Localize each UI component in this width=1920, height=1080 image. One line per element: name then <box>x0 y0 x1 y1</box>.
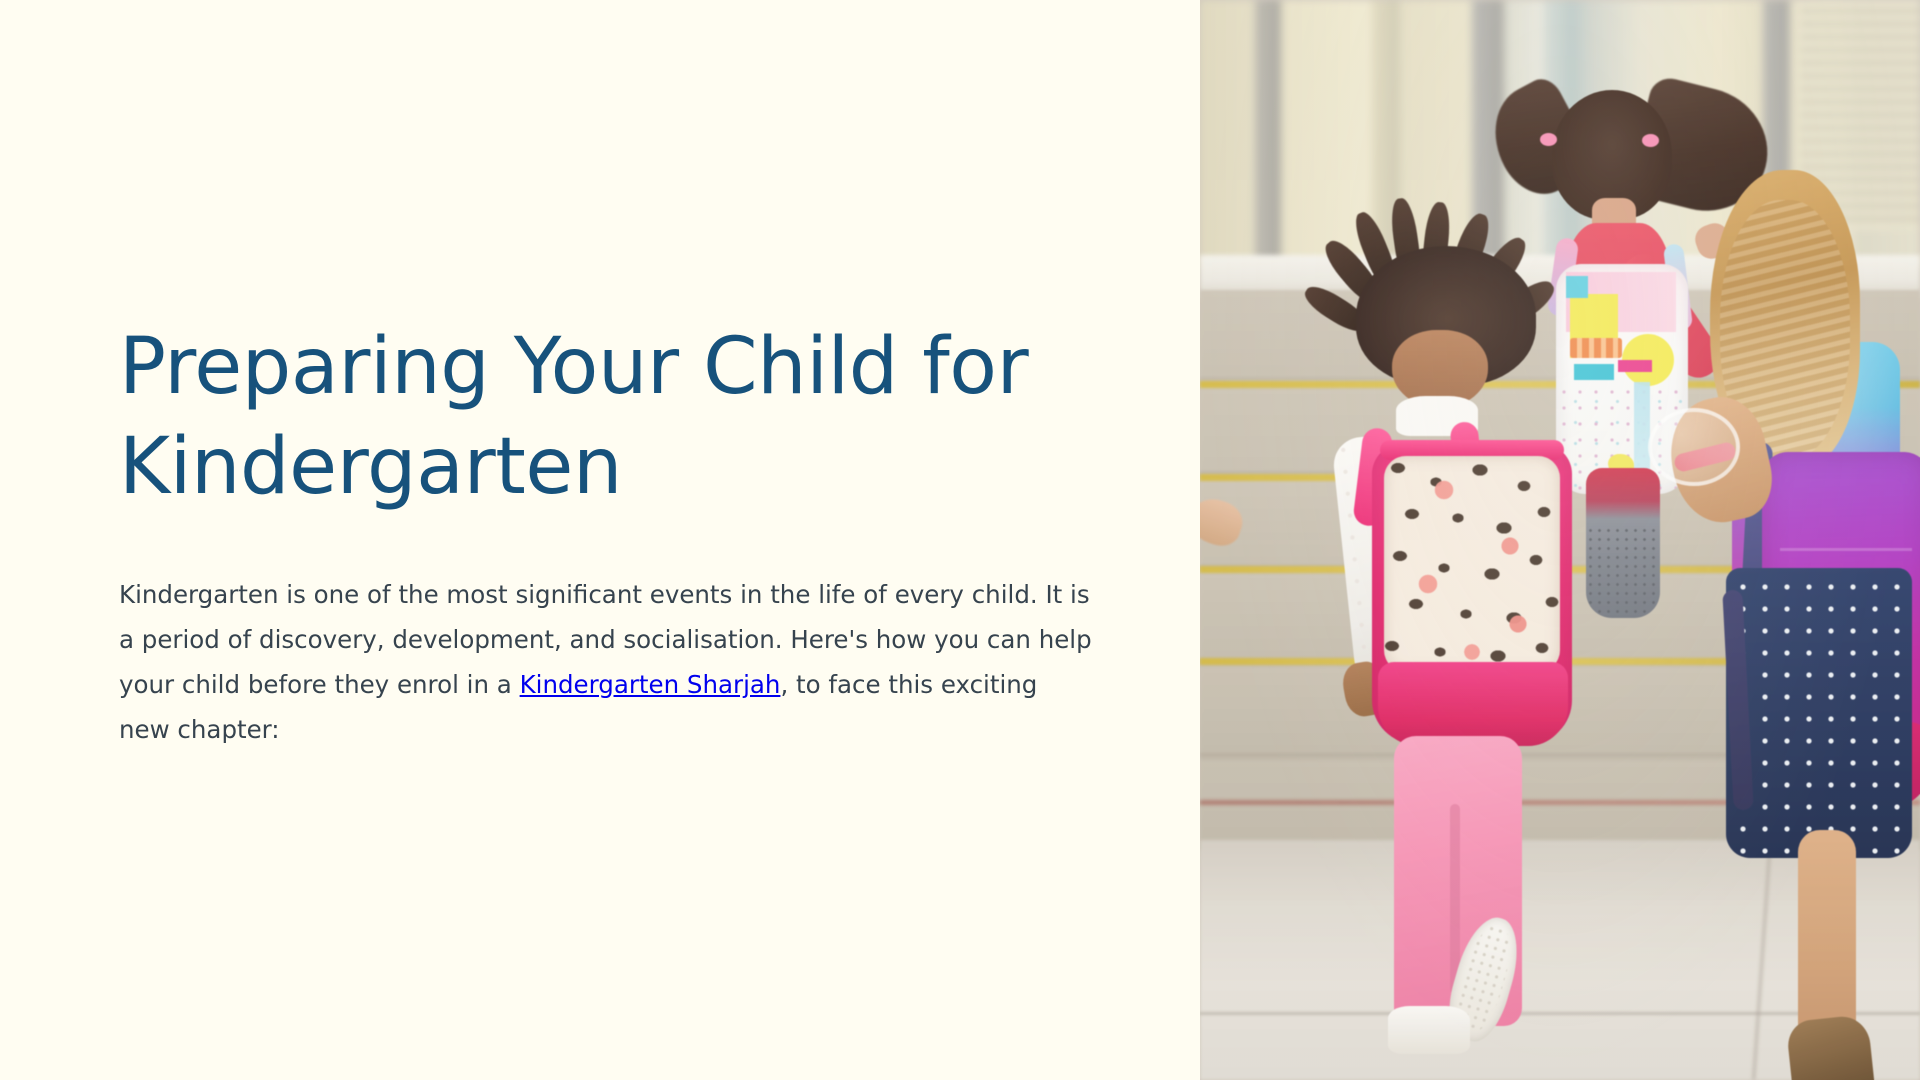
page-title: Preparing Your Child for Kindergarten <box>119 318 1079 518</box>
hero-page: Preparing Your Child for Kindergarten Ki… <box>0 0 1920 1080</box>
children-with-backpacks-photo <box>1200 0 1920 1080</box>
backpack-seam <box>1780 548 1912 551</box>
hero-paragraph: Kindergarten is one of the most signific… <box>119 572 1094 752</box>
backpack-front-pocket <box>1378 662 1568 746</box>
hero-text-block: Preparing Your Child for Kindergarten Ki… <box>119 318 1119 752</box>
heart-motifs <box>1384 456 1560 672</box>
brown-sandal <box>1786 1014 1877 1080</box>
polka-dot-skirt <box>1726 568 1912 858</box>
white-sneaker <box>1388 1006 1470 1054</box>
hero-text-pane: Preparing Your Child for Kindergarten Ki… <box>0 0 1200 1080</box>
kindergarten-sharjah-link[interactable]: Kindergarten Sharjah <box>520 670 781 699</box>
leopard-print-panel <box>1384 456 1560 672</box>
child-with-purple-backpack <box>1670 170 1920 1080</box>
hair-band <box>1642 134 1659 147</box>
backpack-pattern-block <box>1618 360 1652 372</box>
soap-bubble <box>1648 408 1740 486</box>
hair-band <box>1540 133 1557 146</box>
hero-photo-pane <box>1200 0 1920 1080</box>
child-with-leopard-backpack <box>1310 200 1620 1060</box>
